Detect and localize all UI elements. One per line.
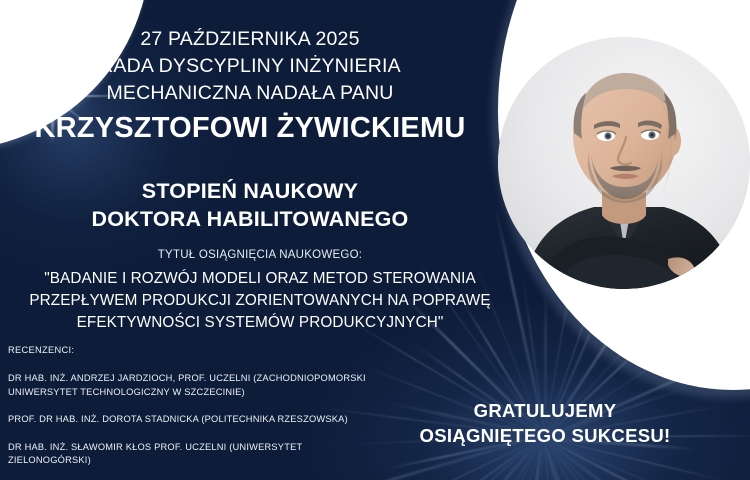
reviewers-block: RECENZENCI: DR HAB. INŻ. ANDRZEJ JARDZIO… [8,345,408,480]
thesis-title-block: "BADANIE I ROZWÓJ MODELI ORAZ METOD STER… [0,268,520,334]
thesis-title-line-1: "BADANIE I ROZWÓJ MODELI ORAZ METOD STER… [0,268,520,290]
congratulations-block: GRATULUJEMY OSIĄGNIĘTEGO SUKCESU! [400,398,690,448]
congratulations-line-2: OSIĄGNIĘTEGO SUKCESU! [400,423,690,448]
degree-block: STOPIEŃ NAUKOWY DOKTORA HABILITOWANEGO [0,177,500,233]
reviewer-item: DR HAB. INŻ. SŁAWOMIR KŁOS PROF. UCZELNI… [8,441,383,468]
thesis-label: TYTUŁ OSIĄGNIĘCIA NAUKOWEGO: [0,249,520,261]
headline-line-1: 27 PAŹDZIERNIKA 2025 [0,26,500,53]
reviewer-item: PROF. DR HAB. INŻ. DOROTA STADNICKA (POL… [8,413,383,427]
thesis-title-line-2: PRZEPŁYWEM PRODUKCJI ZORIENTOWANYCH NA P… [0,290,520,312]
portrait-photo [498,37,750,289]
reviewers-heading: RECENZENCI: [8,345,408,355]
degree-line-2: DOKTORA HABILITOWANEGO [0,205,500,233]
congratulations-line-1: GRATULUJEMY [400,398,690,423]
headline-block: 27 PAŹDZIERNIKA 2025 RADA DYSCYPLINY INŻ… [0,26,500,107]
thesis-title-line-3: EFEKTYWNOŚCI SYSTEMÓW PRODUKCYJNYCH" [0,312,520,334]
congratulations-poster: 27 PAŹDZIERNIKA 2025 RADA DYSCYPLINY INŻ… [0,0,750,480]
headline-line-2: RADA DYSCYPLINY INŻYNIERIA [0,53,500,80]
headline-line-3: MECHANICZNA NADAŁA PANU [0,80,500,107]
laureate-name: KRZYSZTOFOWI ŻYWICKIEMU [0,110,500,146]
reviewer-item: DR HAB. INŻ. ANDRZEJ JARDZIOCH, PROF. UC… [8,372,383,399]
degree-line-1: STOPIEŃ NAUKOWY [0,177,500,205]
